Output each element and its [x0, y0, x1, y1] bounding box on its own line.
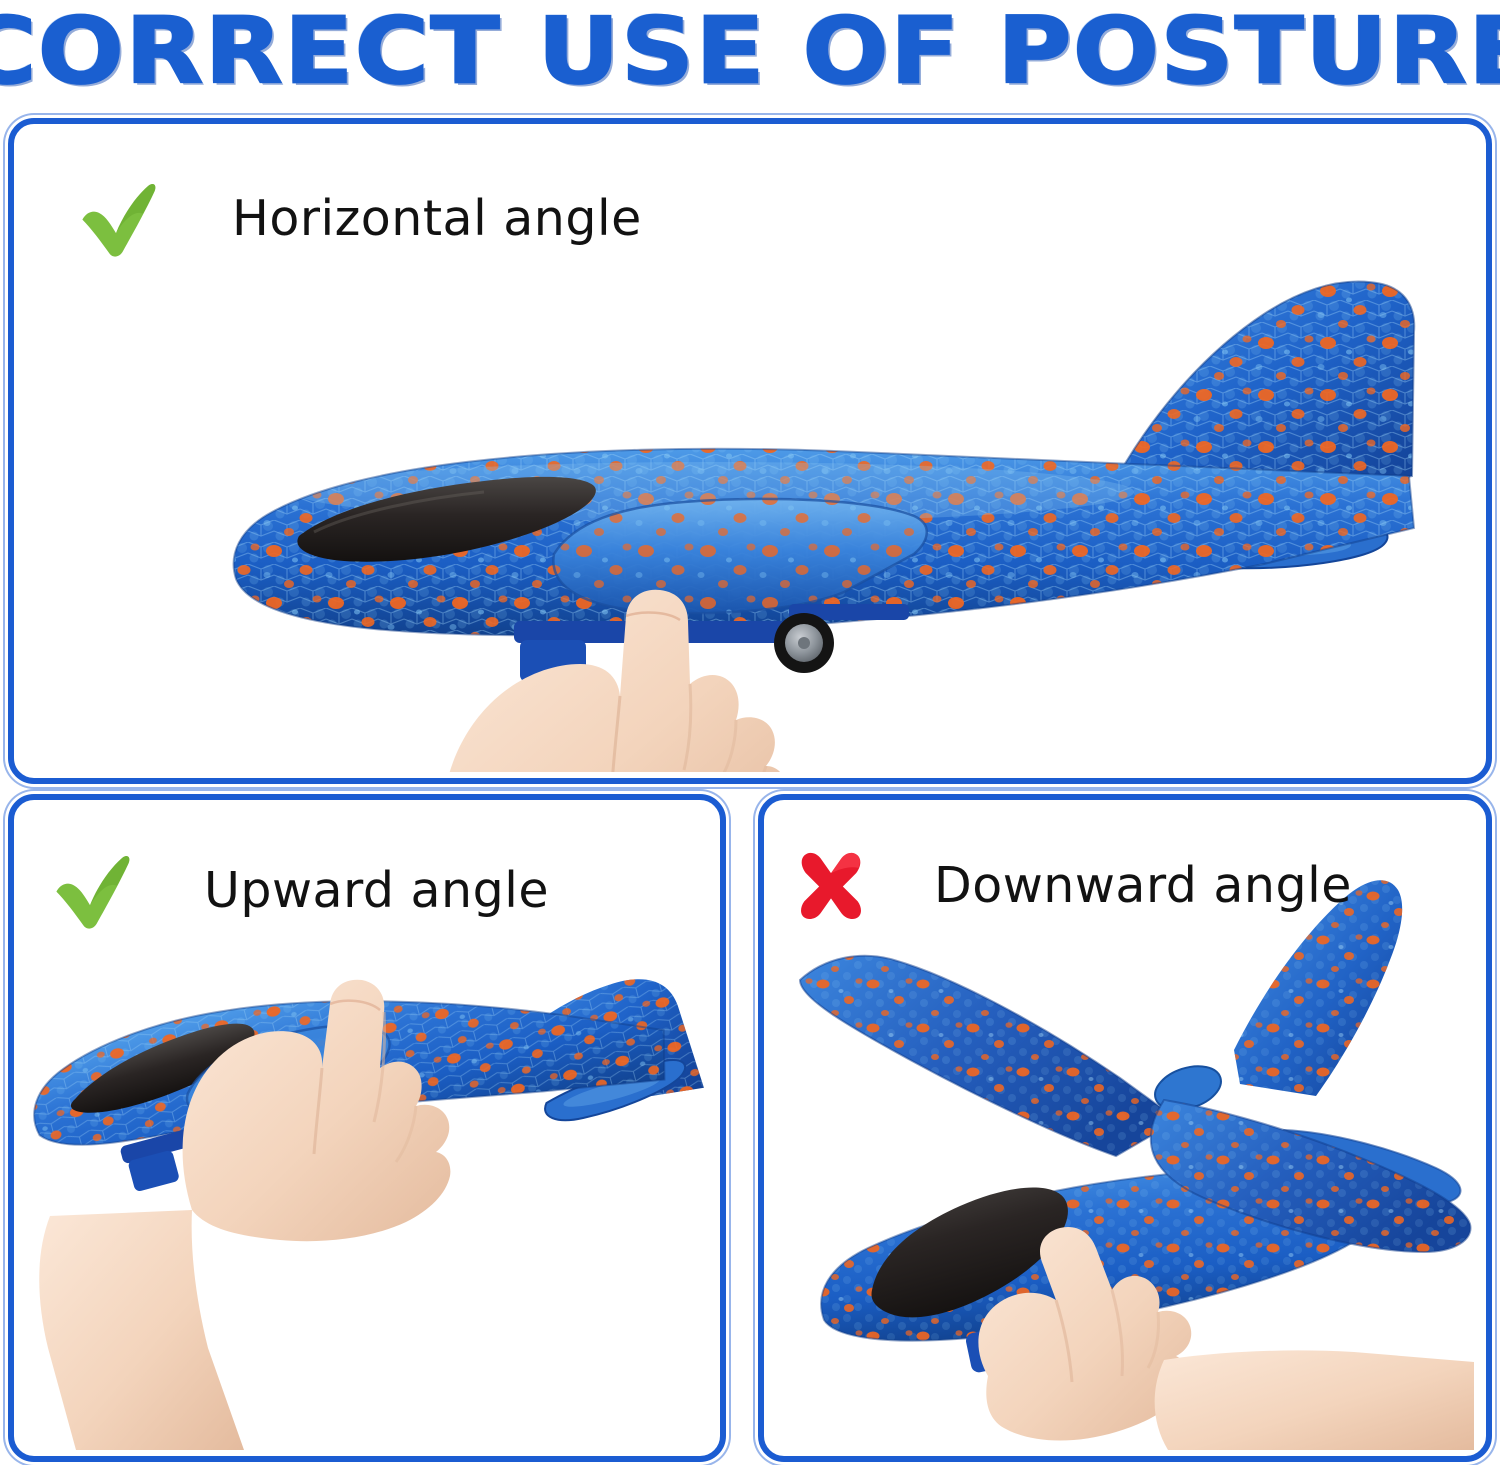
label-downward-text: Downward angle: [934, 857, 1352, 914]
page-title: CORRECT USE OF POSTURE: [0, 0, 1500, 105]
green-check-icon: [48, 848, 132, 932]
label-upward-text: Upward angle: [204, 862, 549, 919]
status-label-downward: Downward angle: [794, 848, 1352, 922]
status-label-upward: Upward angle: [48, 848, 549, 932]
status-label-horizontal: Horizontal angle: [74, 176, 642, 260]
panel-downward-angle: Downward angle: [758, 794, 1492, 1462]
red-cross-icon: [794, 848, 868, 922]
label-horizontal-text: Horizontal angle: [232, 190, 642, 247]
landing-wheel: [774, 604, 909, 673]
panel-upward-angle: Upward angle: [8, 794, 726, 1462]
page-header: CORRECT USE OF POSTURE: [0, 0, 1500, 104]
green-check-icon: [74, 176, 158, 260]
left-wing-downward: [784, 940, 1194, 1170]
panel-horizontal-angle: Horizontal angle: [8, 118, 1492, 784]
